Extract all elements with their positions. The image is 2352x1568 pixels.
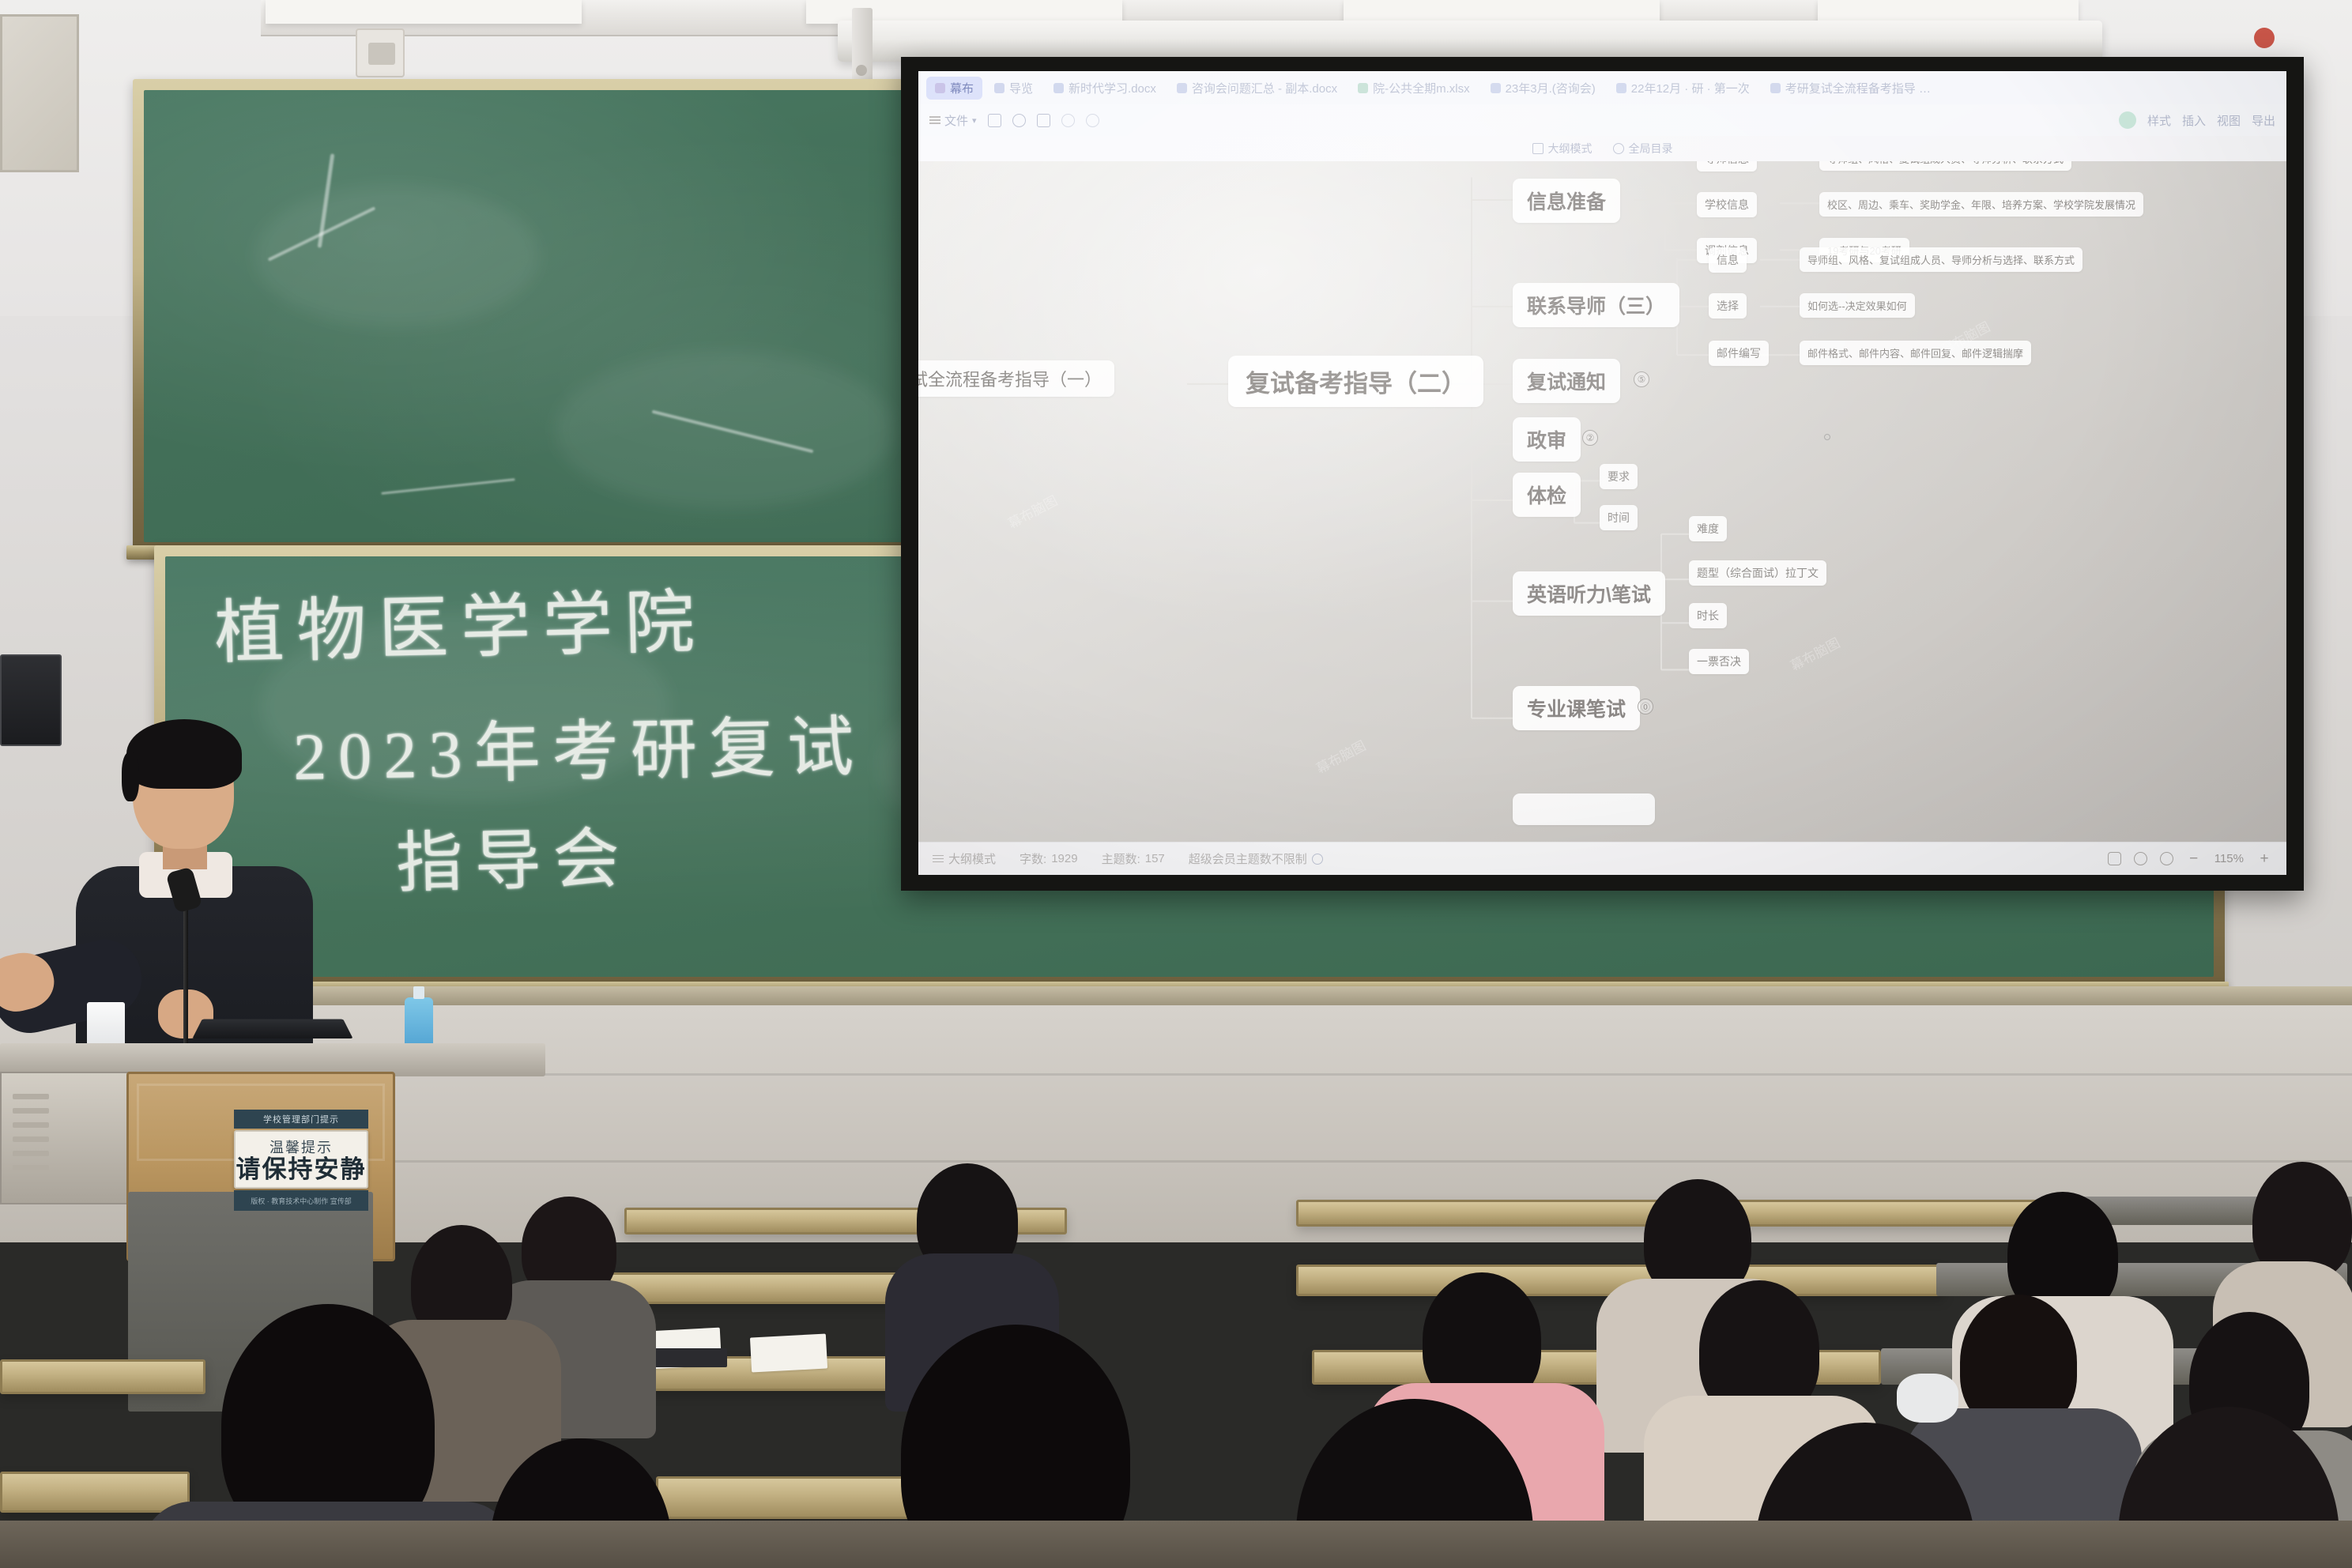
- undo-icon[interactable]: [1061, 114, 1075, 127]
- status-topic-count: 主题数: 157: [1102, 850, 1165, 867]
- file-menu-button[interactable]: 文件 ▾: [929, 112, 977, 129]
- presenter-hair: [126, 719, 242, 789]
- mindmap-node-shichang[interactable]: 时长: [1689, 603, 1727, 628]
- status-mode-label: 大纲模式: [948, 850, 996, 867]
- chevron-down-icon: ▾: [972, 115, 977, 126]
- tab-label: 导览: [1009, 80, 1033, 96]
- file-menu-label: 文件: [944, 112, 968, 129]
- mindmap-canvas[interactable]: 考研复试全流程备考指导（一） 复试备考指导（二） 信息准备 导师信息 导师组、风…: [918, 161, 2286, 842]
- tab-label: 院-公共全期m.xlsx: [1373, 80, 1470, 96]
- outline-icon: [1532, 143, 1543, 154]
- download-icon[interactable]: [1012, 114, 1026, 127]
- mindmap-detail-xuexiaoxinxi[interactable]: 校区、周边、乘车、奖助学金、年限、培养方案、学校学院发展情况: [1819, 192, 2143, 217]
- outline-mode-button[interactable]: 大纲模式: [1532, 141, 1592, 156]
- menu-icon: [929, 114, 940, 126]
- wall-panel-top-left: [0, 14, 79, 172]
- doc-icon: [1616, 83, 1626, 93]
- status-member-note: 超级会员主题数不限制: [1189, 850, 1323, 867]
- mindmap-root-node[interactable]: 复试备考指导（二）: [1228, 356, 1483, 407]
- tab-label: 咨询会问题汇总 - 副本.docx: [1192, 80, 1337, 96]
- browser-tab-1[interactable]: 导览: [986, 77, 1042, 100]
- browser-tab-2[interactable]: 新时代学习.docx: [1045, 77, 1165, 100]
- mindmap-detail-xinxi[interactable]: 导师组、风格、复试组成人员、导师分析与选择、联系方式: [1800, 247, 2082, 272]
- browser-tab-0[interactable]: 幕布: [926, 77, 982, 100]
- mindmap-branch-tijian[interactable]: 体检: [1513, 473, 1581, 517]
- target-icon[interactable]: [2160, 852, 2173, 865]
- podium-sign-strip: 学校管理部门提示: [234, 1110, 368, 1129]
- doc-icon: [1177, 83, 1187, 93]
- zoom-level-label: 115%: [2214, 852, 2244, 865]
- word-count-label: 字数:: [1020, 850, 1046, 867]
- mindmap-branch-xinxizhunbei[interactable]: 信息准备: [1513, 179, 1620, 223]
- chalkboard-upper-surface: [144, 90, 999, 542]
- mindmap-node-youjianbianxie[interactable]: 邮件编写: [1709, 341, 1769, 366]
- share-icon[interactable]: [1037, 114, 1050, 127]
- chalkboard-upper: [133, 79, 1010, 553]
- outline-mode-label: 大纲模式: [1548, 141, 1592, 156]
- mindmap-node-xinxi[interactable]: 信息: [1709, 247, 1747, 273]
- mindmap-badge-fushitongzhi: ⑤: [1634, 371, 1649, 387]
- desk-row-4-a: [0, 1472, 190, 1513]
- topic-count-label: 主题数:: [1102, 850, 1140, 867]
- mindmap-badge-zhengshen: ②: [1582, 430, 1598, 446]
- global-toc-label: 全局目录: [1629, 141, 1673, 156]
- projector-screen-roller[interactable]: [838, 21, 2102, 62]
- chalkboard-line-3: 指导会: [395, 805, 632, 906]
- eye-icon[interactable]: [2134, 852, 2147, 865]
- mindmap-branch-fushitongzhi[interactable]: 复试通知: [1513, 359, 1620, 403]
- face-mask: [1897, 1374, 1958, 1423]
- mindmap-node-daoshixinxi[interactable]: 导师信息: [1697, 161, 1757, 171]
- projector-screen: 幕布 导览 新时代学习.docx 咨询会问题汇总 - 副本.docx 院-公共全…: [901, 57, 2304, 891]
- sheet-icon: [1358, 83, 1368, 93]
- tab-label: 23年3月.(咨询会): [1506, 80, 1596, 96]
- laptop[interactable]: [192, 1020, 352, 1038]
- mindmap-branch-zhuanyekebishi[interactable]: 专业课笔试: [1513, 686, 1640, 730]
- doc-icon: [1053, 83, 1064, 93]
- member-note-label: 超级会员主题数不限制: [1189, 850, 1307, 867]
- topic-count-value: 157: [1145, 852, 1165, 865]
- word-count-value: 1929: [1051, 852, 1077, 865]
- wall-ledge: [0, 986, 2352, 1007]
- new-doc-icon[interactable]: [988, 114, 1001, 127]
- tab-label: 考研复试全流程备考指导 · 考研指导: [1785, 80, 1935, 96]
- mindmap-node-yipiaofojue[interactable]: 一票否决: [1689, 649, 1749, 674]
- doc-icon: [1491, 83, 1501, 93]
- browser-tab-4[interactable]: 院-公共全期m.xlsx: [1349, 77, 1479, 100]
- mindmap-node-yaoqiu[interactable]: 要求: [1600, 464, 1638, 489]
- export-menu-button[interactable]: 导出: [2252, 112, 2275, 129]
- doc-icon: [1770, 83, 1781, 93]
- paper-cup: [87, 1002, 125, 1050]
- browser-tab-6[interactable]: 22年12月 · 研 · 第一次: [1608, 77, 1758, 100]
- mindmap-node-xuexiaoxinxi[interactable]: 学校信息: [1697, 192, 1757, 217]
- screenshot-icon[interactable]: [2108, 852, 2121, 865]
- avatar[interactable]: [2119, 111, 2136, 129]
- paper-sheet-2: [750, 1334, 827, 1373]
- mindmap-branch-zhengshen[interactable]: 政审: [1513, 417, 1581, 462]
- audience-area: [0, 1162, 2352, 1568]
- mindmap-detail-daoshixinxi[interactable]: 导师组、风格、复试组成人员、导师分析、联系方式: [1819, 161, 2071, 171]
- logo-mark-icon: [2254, 28, 2275, 48]
- doc-icon: [994, 83, 1004, 93]
- projected-app-window: 幕布 导览 新时代学习.docx 咨询会问题汇总 - 副本.docx 院-公共全…: [918, 71, 2286, 875]
- status-word-count: 字数: 1929: [1020, 850, 1078, 867]
- insert-menu-button[interactable]: 插入: [2182, 112, 2206, 129]
- mindmap-node-shijian[interactable]: 时间: [1600, 505, 1638, 530]
- mindmap-badge-zhuanyekebishi: ⓪: [1638, 699, 1653, 714]
- app-sub-toolbar: 大纲模式 全局目录: [918, 136, 2286, 161]
- zoom-in-button[interactable]: +: [2256, 850, 2272, 868]
- tab-label: 新时代学习.docx: [1069, 80, 1156, 96]
- style-menu-button[interactable]: 样式: [2147, 112, 2171, 129]
- redo-icon[interactable]: [1086, 114, 1099, 127]
- app-status-bar: 大纲模式 字数: 1929 主题数: 157 超级会员主题数不限制: [918, 842, 2286, 875]
- ceiling-light-1: [266, 0, 582, 24]
- mindmap-branch-lianxidaoshi[interactable]: 联系导师（三）: [1513, 283, 1679, 327]
- mindmap-parent-node[interactable]: 考研复试全流程备考指导（一）: [918, 360, 1114, 397]
- search-icon: [1613, 143, 1624, 154]
- view-menu-button[interactable]: 视图: [2217, 112, 2241, 129]
- chalkboard-line-1: 植物医学学院: [213, 566, 708, 677]
- outline-icon: [933, 853, 944, 865]
- app-toolbar: 文件 ▾ 样式 插入 视图 导出: [918, 104, 2286, 136]
- mindmap-branch-yingyutingli[interactable]: 英语听力\笔试: [1513, 571, 1665, 616]
- wall-socket[interactable]: [356, 28, 405, 77]
- floor: [0, 1521, 2352, 1568]
- browser-tab-5[interactable]: 23年3月.(咨询会): [1482, 77, 1604, 100]
- browser-tab-7[interactable]: 考研复试全流程备考指导 · 考研指导: [1762, 77, 1943, 100]
- zoom-out-button[interactable]: −: [2186, 850, 2202, 868]
- classroom-scene: 植物医学学院 2023年考研复试 指导会 幕布 导览 新时代学: [0, 0, 2352, 1568]
- chalkboard-line-2: 2023年考研复试: [292, 693, 866, 799]
- mindmap-detail-youjianbianxie[interactable]: 邮件格式、邮件内容、邮件回复、邮件逻辑揣摩: [1800, 341, 2031, 365]
- global-toc-button[interactable]: 全局目录: [1613, 141, 1673, 156]
- school-logo: [2254, 24, 2322, 52]
- microphone-stand: [183, 901, 188, 1059]
- info-icon[interactable]: [1312, 854, 1323, 865]
- roller-screw: [856, 65, 867, 76]
- quiet-sign-notice: 温馨提示: [269, 1136, 333, 1157]
- desk-row-3-a: [0, 1359, 205, 1394]
- app-logo-icon: [935, 83, 945, 93]
- mindmap-node-tixing[interactable]: 题型（综合面试）拉丁文: [1689, 560, 1826, 586]
- mindmap-detail-xuanze[interactable]: 如何选--决定效果如何: [1800, 293, 1915, 318]
- browser-tab-bar: 幕布 导览 新时代学习.docx 咨询会问题汇总 - 副本.docx 院-公共全…: [918, 71, 2286, 104]
- mindmap-node-xuanze[interactable]: 选择: [1709, 293, 1747, 318]
- mouse-cursor: [1824, 434, 1830, 440]
- status-outline-mode[interactable]: 大纲模式: [933, 850, 996, 867]
- mindmap-node-nandu[interactable]: 难度: [1689, 516, 1727, 541]
- tab-label: 22年12月 · 研 · 第一次: [1631, 80, 1750, 96]
- tab-label: 幕布: [950, 80, 974, 96]
- browser-tab-3[interactable]: 咨询会问题汇总 - 副本.docx: [1168, 77, 1346, 100]
- mindmap-branch-next-partial[interactable]: [1513, 793, 1655, 825]
